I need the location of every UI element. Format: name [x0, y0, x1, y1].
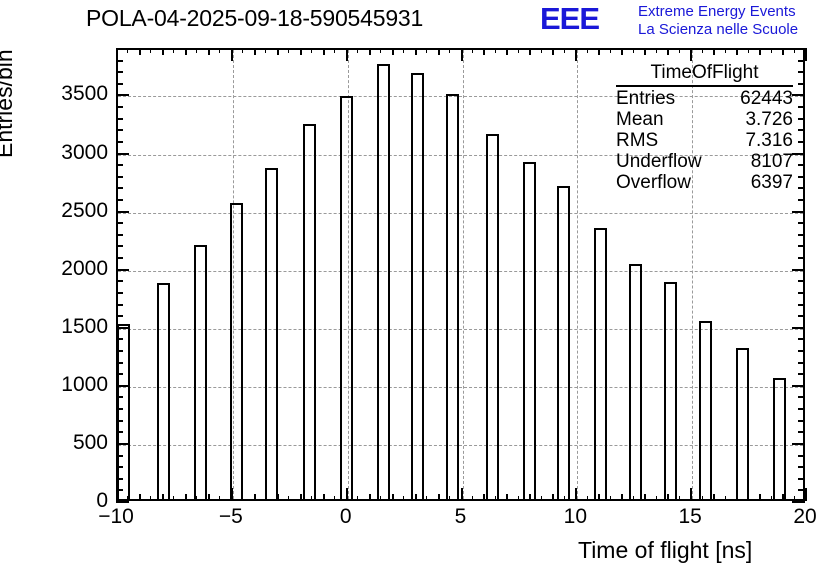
x-tick-minor: [288, 496, 289, 501]
x-tick-minor: [736, 494, 738, 501]
y-tick-major: [116, 327, 129, 329]
x-axis-tick-label: −5: [191, 505, 271, 529]
x-tick-minor-top: [173, 48, 174, 53]
x-tick-minor-top: [518, 48, 519, 53]
x-tick-minor: [679, 496, 680, 501]
x-tick-minor-top: [713, 48, 715, 55]
histogram-bar: [486, 134, 499, 499]
y-axis-tick-label: 3500: [8, 82, 108, 106]
y-tick-minor-right: [798, 350, 805, 352]
y-tick-major: [116, 153, 129, 155]
x-tick-major: [690, 488, 692, 501]
x-tick-minor-top: [759, 48, 761, 55]
x-tick-minor: [518, 496, 519, 501]
x-tick-minor-top: [702, 48, 703, 53]
y-tick-minor-right: [798, 315, 805, 317]
page-title: POLA-04-2025-09-18-590545931: [86, 5, 423, 32]
y-tick-minor-right: [798, 187, 805, 189]
x-tick-major: [461, 488, 463, 501]
x-tick-minor: [587, 496, 588, 501]
x-axis-tick-label: 20: [765, 505, 836, 529]
y-tick-minor: [116, 118, 123, 120]
x-tick-minor: [369, 494, 371, 501]
x-tick-minor: [667, 494, 669, 501]
x-tick-minor-top: [587, 48, 588, 53]
y-tick-minor-right: [798, 176, 805, 178]
x-tick-major-top: [461, 48, 463, 61]
y-tick-minor-right: [798, 245, 805, 247]
x-tick-minor-top: [127, 48, 128, 53]
x-tick-minor-top: [254, 48, 256, 55]
stats-key: Overflow: [616, 172, 691, 193]
x-tick-minor-top: [564, 48, 565, 53]
x-tick-minor-top: [415, 48, 417, 55]
x-tick-minor: [403, 496, 404, 501]
y-tick-minor: [116, 350, 123, 352]
y-tick-minor: [116, 373, 123, 375]
x-tick-minor-top: [265, 48, 266, 53]
x-tick-minor: [610, 496, 611, 501]
stats-value: 7.316: [745, 130, 793, 151]
x-tick-minor: [449, 496, 450, 501]
y-tick-major: [116, 94, 129, 96]
x-tick-minor: [415, 494, 417, 501]
y-tick-minor-right: [798, 83, 805, 85]
x-tick-minor: [300, 494, 302, 501]
y-tick-minor: [116, 257, 123, 259]
y-tick-minor: [116, 338, 123, 340]
y-tick-minor: [116, 164, 123, 166]
x-tick-minor-top: [185, 48, 187, 55]
y-tick-major-right: [792, 385, 805, 387]
x-tick-minor: [529, 494, 531, 501]
x-tick-minor: [162, 494, 164, 501]
y-tick-minor-right: [798, 338, 805, 340]
x-tick-minor-top: [300, 48, 302, 55]
stats-row: Underflow8107: [604, 151, 799, 172]
y-tick-minor: [116, 199, 123, 201]
y-tick-minor: [116, 48, 123, 50]
x-tick-minor-top: [725, 48, 726, 53]
histogram-bar: [664, 282, 677, 499]
y-tick-minor: [116, 106, 123, 108]
y-tick-major-right: [792, 269, 805, 271]
x-tick-minor: [242, 496, 243, 501]
x-tick-minor: [196, 496, 197, 501]
x-tick-minor: [506, 494, 508, 501]
x-tick-minor-top: [656, 48, 657, 53]
y-tick-major: [116, 501, 129, 503]
x-tick-major-top: [690, 48, 692, 61]
grid-line-horizontal: [118, 271, 803, 272]
x-tick-major-top: [575, 48, 577, 61]
x-tick-major-top: [805, 48, 807, 61]
x-tick-minor-top: [150, 48, 151, 53]
y-tick-major: [116, 443, 129, 445]
histogram-bar: [265, 168, 278, 499]
y-tick-minor: [116, 234, 123, 236]
eee-logo-mark: EEE: [540, 3, 599, 35]
y-tick-major: [116, 385, 129, 387]
y-tick-minor: [116, 292, 123, 294]
x-tick-minor-top: [483, 48, 485, 55]
x-tick-minor: [702, 496, 703, 501]
stats-row: Overflow6397: [604, 172, 799, 193]
histogram-bar: [773, 378, 786, 499]
x-tick-minor-top: [219, 48, 220, 53]
x-tick-minor: [552, 494, 554, 501]
eee-logo-line2: La Scienza nelle Scuole: [638, 21, 798, 39]
x-tick-minor-top: [782, 48, 784, 55]
x-axis-tick-label: −10: [76, 505, 156, 529]
y-tick-minor-right: [798, 257, 805, 259]
histogram-bar: [340, 96, 353, 499]
x-tick-minor: [483, 494, 485, 501]
x-tick-minor-top: [472, 48, 473, 53]
x-tick-minor: [219, 496, 220, 501]
x-tick-minor-top: [334, 48, 335, 53]
y-tick-minor-right: [798, 408, 805, 410]
y-tick-minor-right: [798, 478, 805, 480]
y-tick-minor: [116, 315, 123, 317]
x-tick-minor-top: [139, 48, 141, 55]
x-tick-minor-top: [242, 48, 243, 53]
x-tick-minor: [621, 494, 623, 501]
x-tick-major-top: [231, 48, 233, 61]
x-tick-minor-top: [208, 48, 210, 55]
x-tick-minor-top: [644, 48, 646, 55]
y-axis-title: Entries/bin: [0, 49, 18, 158]
x-tick-minor: [495, 496, 496, 501]
histogram-bar: [736, 348, 749, 499]
x-tick-minor-top: [771, 48, 772, 53]
y-tick-minor-right: [798, 164, 805, 166]
histogram-bar: [523, 162, 536, 500]
y-tick-minor-right: [798, 431, 805, 433]
x-tick-minor: [254, 494, 256, 501]
x-tick-minor-top: [438, 48, 440, 55]
stats-value: 62443: [740, 88, 793, 109]
y-axis-tick-label: 2500: [8, 199, 108, 223]
x-axis-tick-label: 0: [306, 505, 386, 529]
stats-box: TimeOfFlight Entries62443Mean3.726RMS7.3…: [604, 62, 799, 193]
y-tick-minor: [116, 478, 123, 480]
y-tick-minor: [116, 245, 123, 247]
y-tick-minor: [116, 304, 123, 306]
y-tick-minor-right: [798, 396, 805, 398]
y-tick-minor: [116, 83, 123, 85]
y-tick-minor: [116, 466, 123, 468]
stats-value: 3.726: [745, 109, 793, 130]
x-tick-minor-top: [552, 48, 554, 55]
x-tick-minor: [644, 494, 646, 501]
stats-key: Mean: [616, 109, 664, 130]
x-tick-minor-top: [506, 48, 508, 55]
histogram-bar: [629, 264, 642, 499]
x-tick-minor-top: [403, 48, 404, 53]
stats-row: Mean3.726: [604, 109, 799, 130]
x-tick-minor: [357, 496, 358, 501]
y-tick-minor-right: [798, 466, 805, 468]
x-tick-minor: [782, 494, 784, 501]
y-axis-tick-label: 1500: [8, 315, 108, 339]
y-tick-minor-right: [798, 373, 805, 375]
x-tick-minor-top: [748, 48, 749, 53]
y-tick-minor: [116, 71, 123, 73]
histogram-bar: [699, 321, 712, 499]
grid-line-vertical: [577, 50, 578, 499]
x-tick-minor-top: [679, 48, 680, 53]
x-tick-minor: [323, 494, 325, 501]
y-axis-tick-label: 1000: [8, 373, 108, 397]
x-tick-major-top: [346, 48, 348, 61]
histogram-bar: [303, 124, 316, 499]
histogram-bar: [411, 73, 424, 499]
x-axis-title: Time of flight [ns]: [578, 537, 752, 564]
y-tick-minor-right: [798, 420, 805, 422]
y-tick-minor-right: [798, 199, 805, 201]
x-tick-minor-top: [495, 48, 496, 53]
eee-logo-text: Extreme Energy Events La Scienza nelle S…: [638, 3, 798, 38]
x-axis-tick-label: 5: [421, 505, 501, 529]
histogram-bar: [557, 186, 570, 499]
y-tick-minor-right: [798, 71, 805, 73]
y-axis-tick-label: 3000: [8, 141, 108, 165]
y-tick-minor-right: [798, 118, 805, 120]
stats-title: TimeOfFlight: [616, 62, 793, 87]
y-tick-minor: [116, 455, 123, 457]
x-tick-minor: [541, 496, 542, 501]
x-tick-minor-top: [380, 48, 381, 53]
x-tick-minor: [426, 496, 427, 501]
stats-value: 8107: [751, 151, 793, 172]
x-tick-major: [231, 488, 233, 501]
x-tick-major: [805, 488, 807, 501]
x-axis-tick-label: 15: [650, 505, 730, 529]
eee-logo: EEE Extreme Energy Events La Scienza nel…: [540, 2, 832, 42]
y-tick-minor-right: [798, 129, 805, 131]
stats-row: Entries62443: [604, 88, 799, 109]
x-tick-minor: [771, 496, 772, 501]
histogram-bar: [230, 203, 243, 499]
x-tick-minor: [472, 496, 473, 501]
x-tick-minor-top: [633, 48, 634, 53]
stats-key: Entries: [616, 88, 675, 109]
x-tick-minor: [173, 496, 174, 501]
x-tick-minor: [334, 496, 335, 501]
x-tick-minor: [748, 496, 749, 501]
x-axis-tick-label: 10: [535, 505, 615, 529]
y-tick-minor: [116, 60, 123, 62]
x-tick-minor: [438, 494, 440, 501]
histogram-bar: [594, 228, 607, 499]
x-tick-minor-top: [610, 48, 611, 53]
x-tick-minor-top: [311, 48, 312, 53]
y-tick-minor-right: [798, 362, 805, 364]
y-tick-minor: [116, 431, 123, 433]
y-axis-tick-label: 2000: [8, 257, 108, 281]
histogram-bar: [194, 245, 207, 499]
x-tick-minor: [265, 496, 266, 501]
y-tick-minor: [116, 420, 123, 422]
x-tick-minor: [725, 496, 726, 501]
y-tick-minor: [116, 489, 123, 491]
x-tick-major: [575, 488, 577, 501]
x-tick-minor-top: [196, 48, 197, 53]
root-canvas: POLA-04-2025-09-18-590545931 EEE Extreme…: [0, 0, 836, 572]
y-tick-minor-right: [798, 280, 805, 282]
x-tick-minor: [564, 496, 565, 501]
y-tick-major: [116, 211, 129, 213]
x-tick-major: [346, 488, 348, 501]
stats-row: RMS7.316: [604, 130, 799, 151]
y-tick-major: [116, 269, 129, 271]
stats-key: RMS: [616, 130, 658, 151]
grid-line-horizontal: [118, 213, 803, 214]
x-tick-minor: [598, 494, 600, 501]
histogram-bar: [446, 94, 459, 499]
y-tick-major-right: [792, 211, 805, 213]
y-tick-minor-right: [798, 60, 805, 62]
x-tick-minor: [656, 496, 657, 501]
x-tick-minor-top: [426, 48, 427, 53]
x-tick-minor-top: [277, 48, 279, 55]
x-tick-minor: [633, 496, 634, 501]
x-tick-minor-top: [288, 48, 289, 53]
y-tick-major-right: [792, 501, 805, 503]
eee-logo-line1: Extreme Energy Events: [638, 3, 798, 21]
y-tick-major-right: [792, 443, 805, 445]
x-tick-minor-top: [529, 48, 531, 55]
x-tick-minor: [208, 494, 210, 501]
y-tick-minor-right: [798, 234, 805, 236]
x-tick-minor-top: [162, 48, 164, 55]
y-tick-minor-right: [798, 304, 805, 306]
histogram-bar: [157, 283, 170, 499]
y-tick-minor-right: [798, 489, 805, 491]
y-tick-major-right: [792, 327, 805, 329]
x-tick-minor-top: [392, 48, 394, 55]
x-tick-minor: [380, 496, 381, 501]
y-tick-minor: [116, 396, 123, 398]
y-tick-minor: [116, 176, 123, 178]
x-tick-minor-top: [667, 48, 669, 55]
x-tick-minor-top: [621, 48, 623, 55]
x-tick-minor-top: [541, 48, 542, 53]
x-tick-minor: [713, 494, 715, 501]
y-tick-minor-right: [798, 222, 805, 224]
y-axis-tick-label: 500: [8, 431, 108, 455]
x-tick-minor-top: [369, 48, 371, 55]
stats-value: 6397: [751, 172, 793, 193]
x-tick-minor-top: [736, 48, 738, 55]
x-tick-minor: [311, 496, 312, 501]
x-tick-minor: [759, 494, 761, 501]
x-tick-minor: [139, 494, 141, 501]
x-tick-minor-top: [598, 48, 600, 55]
y-tick-minor-right: [798, 141, 805, 143]
y-tick-minor: [116, 222, 123, 224]
x-tick-minor-top: [794, 48, 795, 53]
stats-key: Underflow: [616, 151, 702, 172]
x-tick-minor: [185, 494, 187, 501]
y-tick-minor-right: [798, 48, 805, 50]
y-tick-minor-right: [798, 106, 805, 108]
x-tick-minor-top: [323, 48, 325, 55]
x-tick-minor: [392, 494, 394, 501]
y-tick-minor: [116, 280, 123, 282]
y-tick-minor: [116, 408, 123, 410]
y-tick-minor: [116, 129, 123, 131]
x-tick-minor-top: [357, 48, 358, 53]
y-tick-minor: [116, 187, 123, 189]
x-tick-minor: [277, 494, 279, 501]
histogram-bar: [377, 64, 390, 499]
y-tick-minor: [116, 362, 123, 364]
x-tick-minor-top: [449, 48, 450, 53]
x-tick-minor: [150, 496, 151, 501]
y-tick-minor-right: [798, 455, 805, 457]
grid-line-vertical: [463, 50, 464, 499]
y-tick-minor-right: [798, 292, 805, 294]
y-tick-minor: [116, 141, 123, 143]
